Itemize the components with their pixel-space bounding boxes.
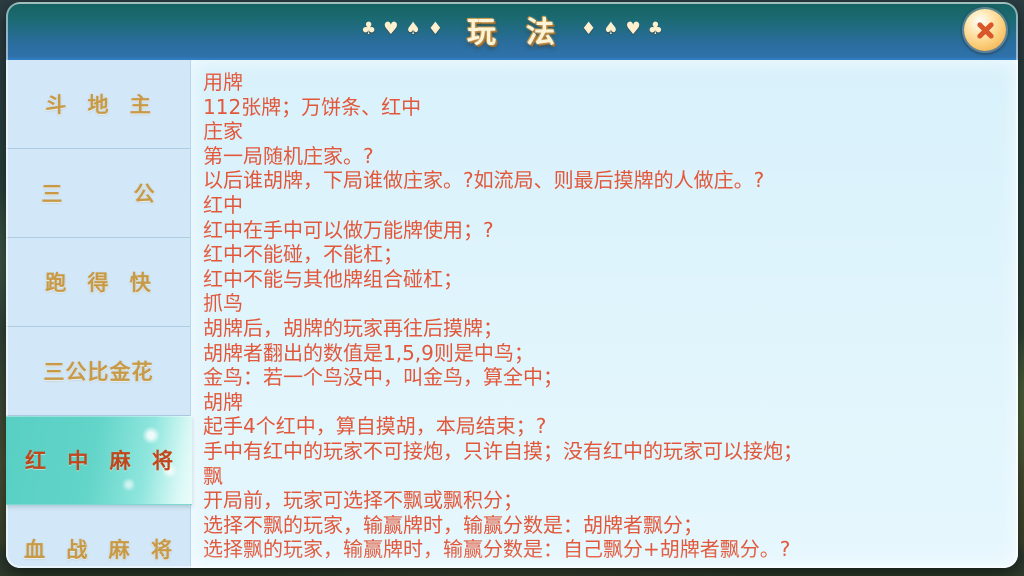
rules-line: 胡牌后，胡牌的玩家再往后摸牌； <box>203 316 1004 341</box>
rules-line: 金鸟：若一个鸟没中，叫金鸟，算全中； <box>203 365 1004 390</box>
dialog-title: 玩 法 <box>459 9 565 51</box>
close-icon <box>975 20 995 40</box>
sidebar-item-label: 跑 得 快 <box>38 267 158 297</box>
spade-icon: ♠ <box>603 21 618 38</box>
rules-line: 以后谁胡牌，下局谁做庄家。?如流局、则最后摸牌的人做庄。? <box>203 168 1004 193</box>
sidebar-item-sangong[interactable]: 三 公 <box>6 149 190 238</box>
rules-line: 飘 <box>203 464 1004 489</box>
rules-line: 用牌 <box>203 70 1004 95</box>
rules-line: 选择飘的玩家，输赢牌时，输赢分数是：自己飘分+胡牌者飘分。? <box>203 537 1004 562</box>
title-suits-right: ♦ ♠ ♥ ♣ <box>581 22 663 39</box>
sidebar-item-doudizhu[interactable]: 斗 地 主 <box>6 60 190 149</box>
sidebar-item-hongzhongmajiang[interactable]: 红 中 麻 将 <box>6 416 192 505</box>
rules-text-block: 用牌112张牌；万饼条、红中庄家第一局随机庄家。?以后谁胡牌，下局谁做庄家。?如… <box>203 70 1004 562</box>
rules-line: 红中 <box>203 193 1004 218</box>
dialog-title-bar: ♣ ♥ ♠ ♦ 玩 法 ♦ ♠ ♥ ♣ <box>6 2 1018 60</box>
game-screen: ♣ ♥ ♠ ♦ 玩 法 ♦ ♠ ♥ ♣ 斗 <box>0 0 1024 576</box>
gameplay-rules-dialog: ♣ ♥ ♠ ♦ 玩 法 ♦ ♠ ♥ ♣ 斗 <box>6 2 1018 568</box>
sidebar-item-label: 红 中 麻 将 <box>18 445 180 475</box>
sidebar-item-label: 斗 地 主 <box>38 89 158 119</box>
sidebar-item-label: 三 公 <box>9 178 186 208</box>
rules-line: 选择不飘的玩家，输赢牌时，输赢分数是：胡牌者飘分； <box>203 513 1004 538</box>
diamond-icon: ♦ <box>428 21 443 38</box>
diamond-icon: ♦ <box>581 21 596 38</box>
sidebar-item-paodekuai[interactable]: 跑 得 快 <box>6 238 190 327</box>
rules-line: 庄家 <box>203 119 1004 144</box>
dialog-body: 斗 地 主 三 公 跑 得 快 三公比金花 红 中 麻 将 血 战 麻 将 <box>6 60 1018 568</box>
game-mode-sidebar: 斗 地 主 三 公 跑 得 快 三公比金花 红 中 麻 将 血 战 麻 将 <box>6 60 191 568</box>
sidebar-item-sangongbijinhua[interactable]: 三公比金花 <box>6 327 190 416</box>
rules-line: 红中不能碰，不能杠； <box>203 242 1004 267</box>
rules-line: 红中不能与其他牌组合碰杠； <box>203 267 1004 292</box>
rules-line: 手中有红中的玩家不可接炮，只许自摸；没有红中的玩家可以接炮； <box>203 439 1004 464</box>
close-button[interactable] <box>964 9 1006 51</box>
rules-line: 开局前，玩家可选择不飘或飘积分； <box>203 488 1004 513</box>
rules-line: 第一局随机庄家。? <box>203 144 1004 169</box>
club-icon: ♣ <box>361 21 376 38</box>
heart-icon: ♥ <box>626 21 641 38</box>
title-suits-left: ♣ ♥ ♠ ♦ <box>361 22 443 39</box>
rules-line: 抓鸟 <box>203 291 1004 316</box>
rules-line: 112张牌；万饼条、红中 <box>203 95 1004 120</box>
club-icon: ♣ <box>648 21 663 38</box>
rules-content-panel[interactable]: 用牌112张牌；万饼条、红中庄家第一局随机庄家。?以后谁胡牌，下局谁做庄家。?如… <box>191 60 1018 568</box>
rules-line: 胡牌者翻出的数值是1,5,9则是中鸟； <box>203 341 1004 366</box>
sidebar-item-label: 血 战 麻 将 <box>17 534 179 564</box>
sidebar-item-label: 三公比金花 <box>43 356 154 386</box>
dialog-title-group: ♣ ♥ ♠ ♦ 玩 法 ♦ ♠ ♥ ♣ <box>6 2 1018 58</box>
sidebar-item-xuezhanmajiang[interactable]: 血 战 麻 将 <box>6 505 190 568</box>
rules-line: 起手4个红中，算自摸胡，本局结束；? <box>203 414 1004 439</box>
spade-icon: ♠ <box>405 21 420 38</box>
rules-line: 胡牌 <box>203 390 1004 415</box>
rules-line: 红中在手中可以做万能牌使用；? <box>203 218 1004 243</box>
heart-icon: ♥ <box>383 21 398 38</box>
